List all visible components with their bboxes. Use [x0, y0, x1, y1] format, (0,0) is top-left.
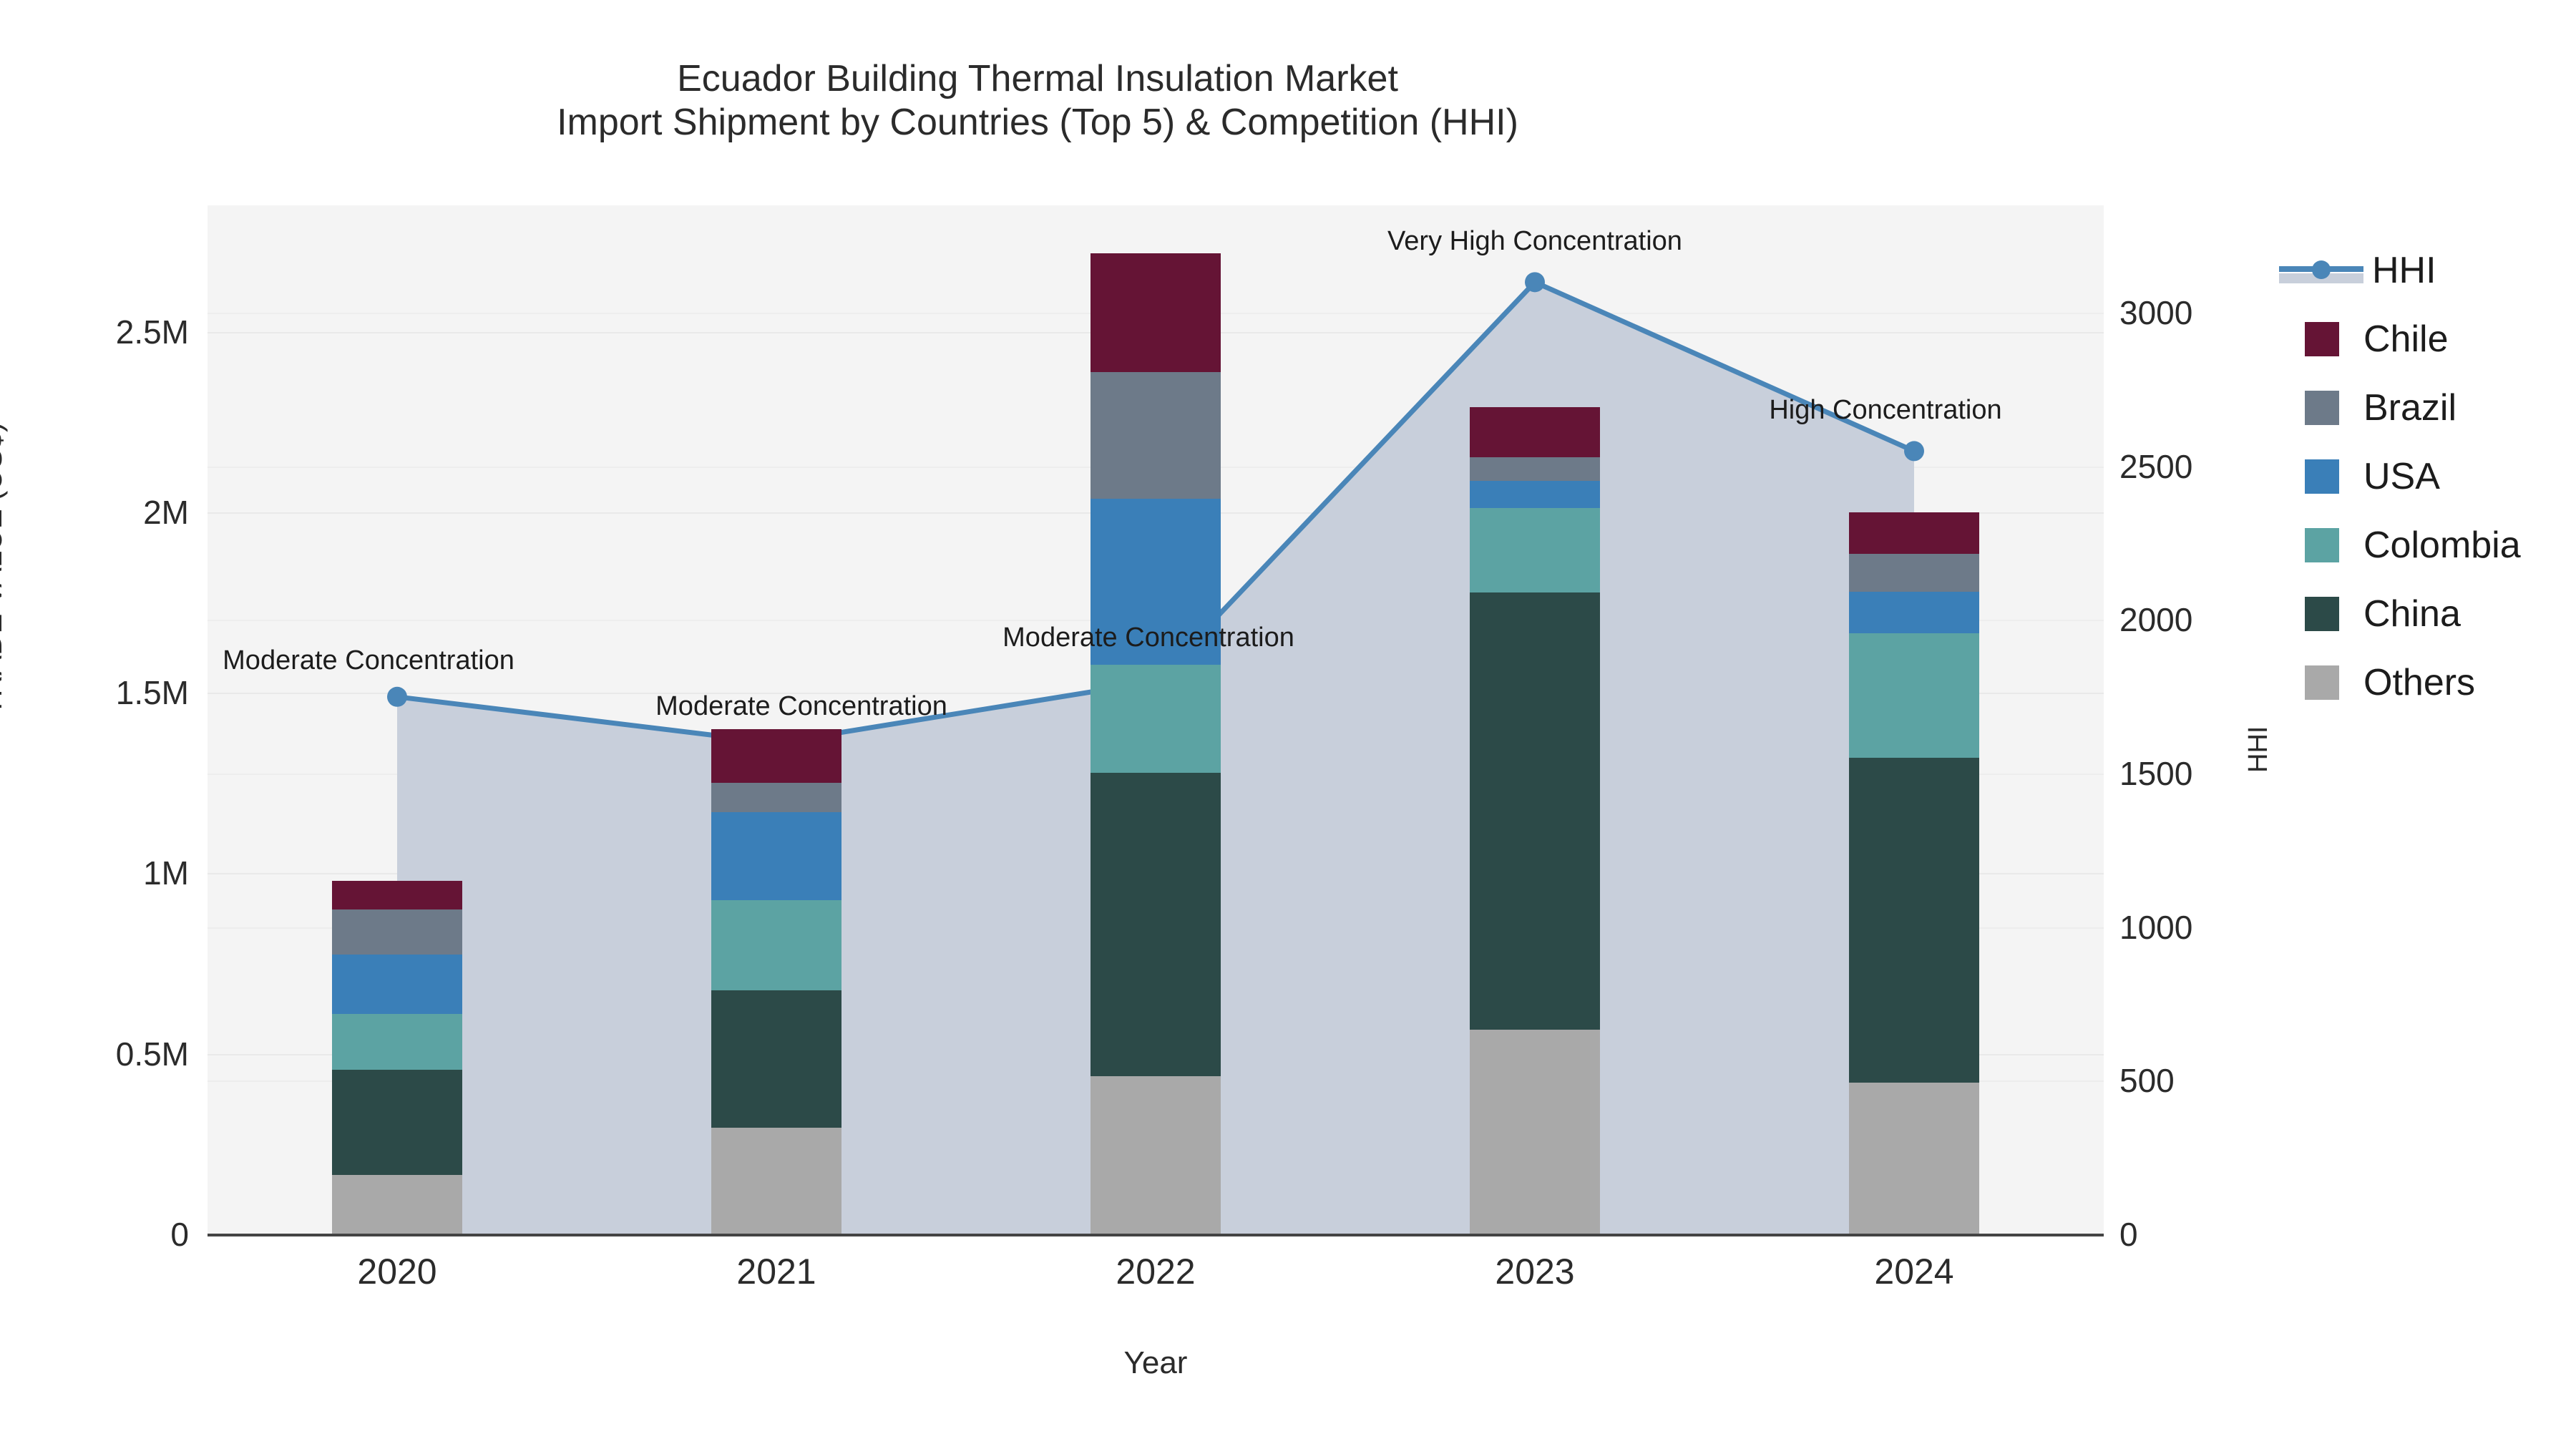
legend-item-colombia[interactable]: Colombia	[2279, 511, 2521, 580]
chart-legend[interactable]: HHIChileBrazilUSAColombiaChinaOthers	[2279, 236, 2521, 717]
x-axis-tick-label-2024: 2024	[1874, 1251, 1953, 1292]
y-axis-right-tick-label: 0	[2119, 1215, 2138, 1254]
bar-segment-others[interactable]	[1470, 1030, 1600, 1234]
legend-color-swatch	[2305, 459, 2339, 494]
legend-color-swatch	[2305, 391, 2339, 425]
bar-segment-chile[interactable]	[1470, 407, 1600, 458]
legend-color-swatch	[2305, 665, 2339, 700]
y-axis-right-tick-label: 2000	[2119, 600, 2192, 639]
x-axis-title: Year	[208, 1345, 2104, 1381]
chart-title: Ecuador Building Thermal Insulation Mark…	[0, 57, 2075, 145]
bar-segment-usa[interactable]	[1849, 592, 1979, 633]
bar-segment-others[interactable]	[1091, 1076, 1221, 1234]
x-axis-tick-label-2021: 2021	[736, 1251, 816, 1292]
hhi-annotation-2023: Very High Concentration	[1387, 226, 1682, 257]
legend-item-label: Brazil	[2363, 389, 2457, 426]
title-line-2: Import Shipment by Countries (Top 5) & C…	[0, 101, 2075, 145]
chart-root: Ecuador Building Thermal Insulation Mark…	[0, 0, 2576, 1449]
x-axis-baseline	[208, 1234, 2104, 1236]
bar-segment-china[interactable]	[1849, 758, 1979, 1083]
legend-item-usa[interactable]: USA	[2279, 442, 2521, 511]
legend-point-dot-icon	[2312, 260, 2331, 279]
legend-item-brazil[interactable]: Brazil	[2279, 374, 2521, 442]
legend-item-label: Colombia	[2363, 527, 2521, 564]
legend-item-label: USA	[2363, 458, 2440, 495]
bar-segment-colombia[interactable]	[711, 900, 841, 990]
bar-segment-usa[interactable]	[711, 812, 841, 901]
bar-segment-usa[interactable]	[332, 955, 462, 1014]
bar-segment-china[interactable]	[332, 1070, 462, 1174]
y-axis-right-title: HHI	[2243, 726, 2274, 773]
legend-item-chile[interactable]: Chile	[2279, 305, 2521, 374]
bar-stack-2023[interactable]	[1470, 205, 1600, 1234]
hhi-annotation-2020: Moderate Concentration	[223, 645, 514, 676]
bar-segment-usa[interactable]	[1470, 481, 1600, 508]
legend-item-china[interactable]: China	[2279, 580, 2521, 648]
bar-segment-colombia[interactable]	[1470, 508, 1600, 593]
bar-segment-colombia[interactable]	[1091, 665, 1221, 773]
bar-segment-brazil[interactable]	[711, 783, 841, 811]
bar-segment-chile[interactable]	[1849, 512, 1979, 554]
bar-stack-2024[interactable]	[1849, 205, 1979, 1234]
bar-segment-brazil[interactable]	[332, 909, 462, 955]
bar-segment-colombia[interactable]	[1849, 633, 1979, 758]
bar-segment-china[interactable]	[711, 990, 841, 1128]
x-axis-tick-label-2023: 2023	[1495, 1251, 1574, 1292]
y-axis-right-tick-label: 1500	[2119, 754, 2192, 793]
y-axis-left-tick-label: 2M	[143, 493, 189, 532]
title-line-1: Ecuador Building Thermal Insulation Mark…	[0, 57, 2075, 101]
legend-item-label: HHI	[2372, 252, 2436, 289]
hhi-annotation-2021: Moderate Concentration	[655, 691, 947, 722]
y-axis-left-title: TRADE VALUE (US$)	[0, 422, 9, 716]
x-axis-tick-label-2022: 2022	[1116, 1251, 1195, 1292]
legend-item-others[interactable]: Others	[2279, 648, 2521, 717]
y-axis-left-tick-label: 2.5M	[116, 313, 189, 351]
bar-segment-china[interactable]	[1470, 592, 1600, 1030]
y-axis-left-tick-label: 0	[170, 1215, 189, 1254]
bar-segment-colombia[interactable]	[332, 1014, 462, 1070]
legend-color-swatch	[2305, 597, 2339, 631]
bar-segment-china[interactable]	[1091, 773, 1221, 1076]
y-axis-right-tick-label: 2500	[2119, 447, 2192, 486]
legend-item-label: Chile	[2363, 321, 2449, 358]
legend-item-hhi[interactable]: HHI	[2279, 236, 2521, 305]
bar-stack-2022[interactable]	[1091, 205, 1221, 1234]
y-axis-left-tick-label: 0.5M	[116, 1035, 189, 1073]
bar-segment-chile[interactable]	[332, 881, 462, 909]
y-axis-left-tick-label: 1M	[143, 854, 189, 892]
legend-color-swatch	[2305, 322, 2339, 356]
bar-stack-2020[interactable]	[332, 205, 462, 1234]
legend-item-label: China	[2363, 595, 2461, 633]
bar-segment-brazil[interactable]	[1091, 372, 1221, 499]
y-axis-right-tick-label: 500	[2119, 1061, 2175, 1100]
bar-segment-others[interactable]	[1849, 1083, 1979, 1234]
legend-color-swatch	[2305, 528, 2339, 562]
hhi-annotation-2024: High Concentration	[1769, 395, 2001, 426]
bar-segment-chile[interactable]	[711, 729, 841, 784]
y-axis-left-tick-label: 1.5M	[116, 673, 189, 712]
bar-segment-brazil[interactable]	[1470, 457, 1600, 481]
bar-segment-brazil[interactable]	[1849, 554, 1979, 592]
bar-segment-others[interactable]	[332, 1175, 462, 1234]
y-axis-right-tick-label: 3000	[2119, 293, 2192, 332]
bar-segment-chile[interactable]	[1091, 253, 1221, 373]
hhi-annotation-2022: Moderate Concentration	[1002, 623, 1294, 653]
legend-item-label: Others	[2363, 664, 2475, 701]
y-axis-right-tick-label: 1000	[2119, 908, 2192, 947]
bar-segment-others[interactable]	[711, 1128, 841, 1234]
bar-series-layer	[208, 205, 2104, 1234]
x-axis-tick-label-2020: 2020	[357, 1251, 436, 1292]
legend-line-marker-icon	[2279, 253, 2363, 288]
